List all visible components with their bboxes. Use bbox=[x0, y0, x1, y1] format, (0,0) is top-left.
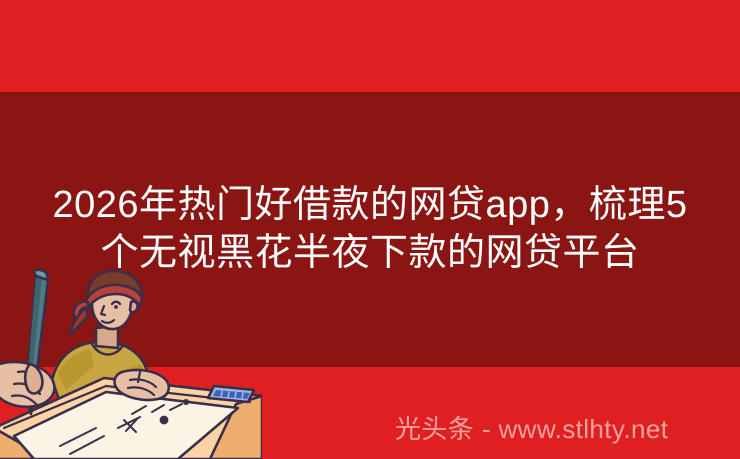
left-hand bbox=[0, 362, 54, 407]
watermark: 光头条 - www.stlhty.net bbox=[395, 412, 668, 446]
blue-ruler bbox=[208, 386, 254, 402]
top-red-band bbox=[0, 0, 740, 92]
person-writing-illustration bbox=[0, 268, 262, 459]
person-head bbox=[70, 271, 142, 355]
headline-title: 2026年热门好借款的网贷app，梳理5 个无视黑花半夜下款的网贷平台 bbox=[0, 181, 740, 277]
headline-line-1: 2026年热门好借款的网贷app，梳理5 bbox=[0, 181, 740, 229]
promo-banner: 2026年热门好借款的网贷app，梳理5 个无视黑花半夜下款的网贷平台 bbox=[0, 0, 740, 459]
